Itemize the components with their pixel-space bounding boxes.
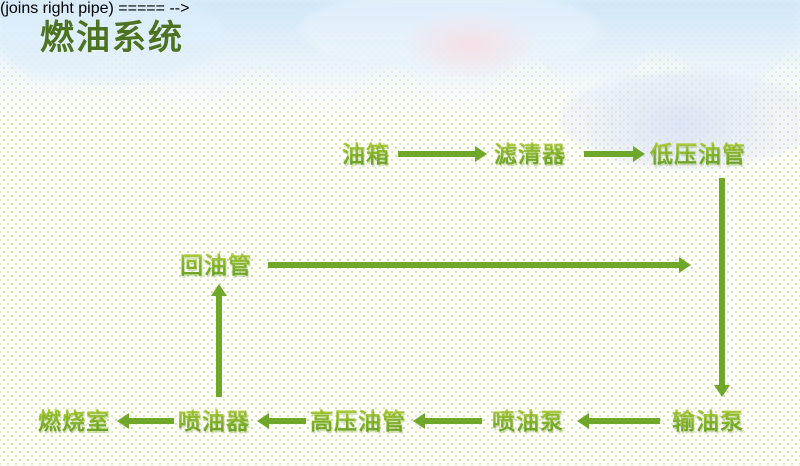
arrowhead-right-icon	[679, 257, 691, 273]
arrow-youxiang-to-luqingqi	[398, 151, 476, 157]
arrow-shuyoubeng-to-penyoubeng	[588, 418, 660, 424]
arrow-penyouqi-to-ranshaoshi	[128, 418, 174, 424]
node-label-shadow-penyouqi: 喷油器	[179, 409, 251, 437]
node-label-shadow-shuyoubeng: 输油泵	[673, 409, 745, 437]
fuel-system-flow-diagram: 油箱 油箱 滤清器 滤清器 低压油管 低压油管 (joins right pip…	[0, 0, 800, 466]
arrowhead-up-icon	[211, 284, 227, 296]
arrow-luqingqi-to-dlyg	[584, 151, 634, 157]
arrowhead-left-icon	[577, 413, 589, 429]
node-label-shadow-ranshaoshi: 燃烧室	[39, 409, 111, 437]
slide-canvas: 燃油系统 油箱 油箱 滤清器 滤清器 低压油管 低压油管 (joins righ…	[0, 0, 800, 466]
node-label-shadow-penyoubeng: 喷油泵	[493, 409, 565, 437]
arrow-gyyg-to-penyouqi	[268, 418, 306, 424]
node-label-shadow-diyayouguan: 低压油管	[651, 142, 747, 170]
node-label-shadow-gaoyayouguan: 高压油管	[311, 409, 407, 437]
page-title: 燃油系统	[40, 10, 184, 59]
arrowhead-right-icon	[633, 146, 645, 162]
arrow-penyouqi-to-huiyouguan	[216, 295, 222, 397]
arrowhead-left-icon	[117, 413, 129, 429]
arrow-dlyg-to-shuyoubeng	[719, 178, 725, 386]
arrow-penyoubeng-to-gyyg	[424, 418, 482, 424]
arrowhead-left-icon	[257, 413, 269, 429]
arrow-huiyouguan-to-pipe	[268, 262, 680, 268]
node-label-shadow-huiyouguan: 回油管	[181, 253, 253, 281]
arrowhead-left-icon	[413, 413, 425, 429]
arrowhead-right-icon	[475, 146, 487, 162]
arrowhead-down-icon	[714, 385, 730, 397]
node-label-shadow-luqingqi: 滤清器	[495, 142, 567, 170]
node-label-shadow-youxiang: 油箱	[343, 142, 391, 170]
